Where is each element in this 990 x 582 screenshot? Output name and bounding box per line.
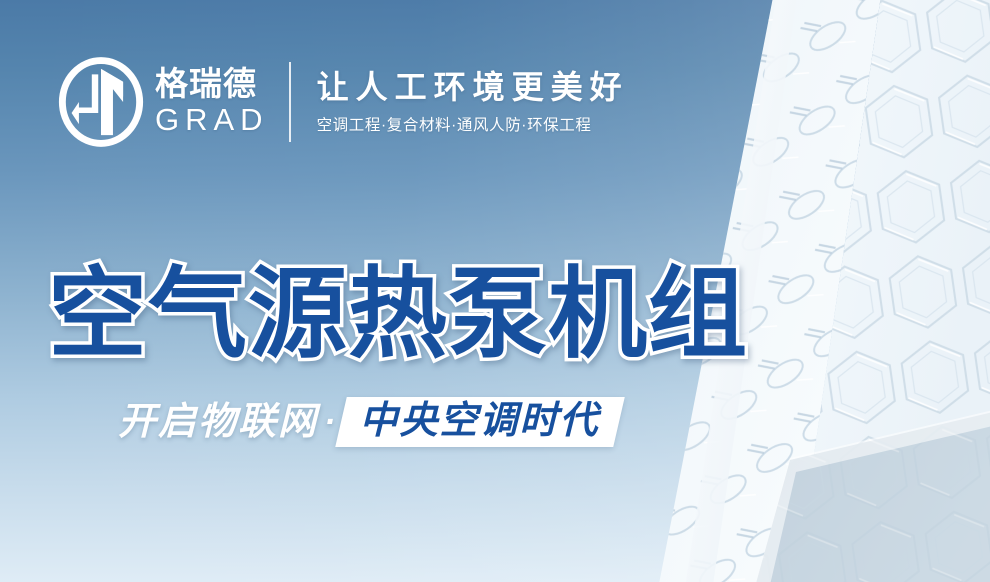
grad-logo-icon: [55, 56, 147, 148]
building-face-shadow: [540, 360, 990, 582]
sub-headline-separator: ·: [324, 405, 335, 439]
header-divider: [289, 62, 291, 142]
main-headline: 空气源热泵机组: [48, 262, 748, 366]
slogan-block: 让人工环境更美好 空调工程·复合材料·通风人防·环保工程: [317, 60, 629, 144]
sub-headline-white-text: 开启物联网: [118, 403, 318, 441]
brand-header: 格瑞德 GRAD 让人工环境更美好 空调工程·复合材料·通风人防·环保工程: [55, 58, 629, 146]
brand-name-block: 格瑞德 GRAD: [155, 60, 269, 144]
sub-headline: 开启物联网 · 中央空调时代: [118, 396, 619, 448]
sub-headline-highlight-banner: 中央空调时代: [341, 397, 619, 447]
logo-svg: [55, 56, 147, 148]
sub-headline-blue-text: 中央空调时代: [359, 402, 599, 440]
brand-name-en: GRAD: [155, 103, 269, 138]
brand-name-cn: 格瑞德: [155, 66, 269, 102]
promo-banner: 格瑞德 GRAD 让人工环境更美好 空调工程·复合材料·通风人防·环保工程 空气…: [0, 0, 990, 582]
slogan-main: 让人工环境更美好: [317, 68, 629, 106]
building-soffit-line: [746, 406, 990, 582]
slogan-sub: 空调工程·复合材料·通风人防·环保工程: [317, 116, 629, 136]
